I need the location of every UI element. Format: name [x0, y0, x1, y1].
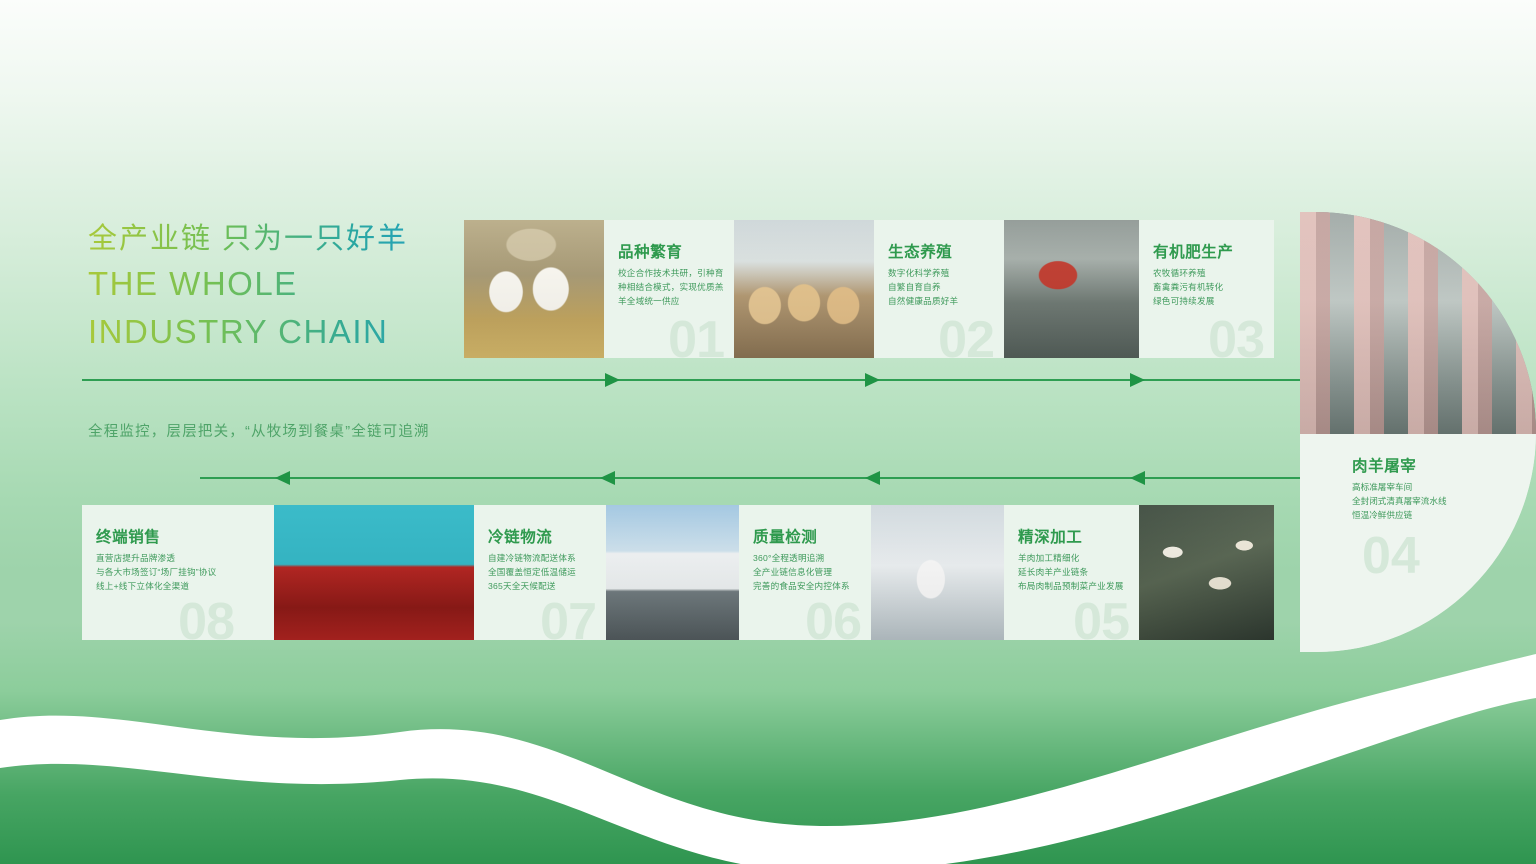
- step-photo-03: [1004, 220, 1139, 358]
- step-lines-02: 数字化科学养殖 自繁自育自养 自然健康品质好羊: [888, 266, 1004, 309]
- step-text-panel-07: 冷链物流 自建冷链物流配送体系 全国覆盖恒定低温储运 365天全天候配送 07: [474, 505, 606, 640]
- step-card-05[interactable]: 精深加工 羊肉加工精细化 延长肉羊产业链条 布局肉制品预制菜产业发展 05: [1004, 505, 1274, 640]
- tagline-text: 全程监控，层层把关，“从牧场到餐桌”全链可追溯: [88, 420, 430, 441]
- step-line: 全国覆盖恒定低温储运: [488, 565, 606, 579]
- step-card-08[interactable]: 终端销售 直营店提升品牌渗透 与各大市场签订“场厂挂钩”协议 线上+线下立体化全…: [82, 505, 474, 640]
- headline-block: 全产业链 只为一只好羊 THE WHOLE INDUSTRY CHAIN: [88, 222, 508, 353]
- step-line: 校企合作技术共研，引种育: [618, 266, 734, 280]
- step-text-panel-03: 有机肥生产 农牧循环养殖 畜禽粪污有机转化 绿色可持续发展 03: [1139, 220, 1274, 358]
- bottom-wave-decoration: [0, 624, 1536, 864]
- step-text-panel-08: 终端销售 直营店提升品牌渗透 与各大市场签订“场厂挂钩”协议 线上+线下立体化全…: [82, 505, 274, 640]
- step-title-07: 冷链物流: [488, 525, 552, 547]
- step-line: 绿色可持续发展: [1153, 294, 1273, 308]
- step-title-01: 品种繁育: [618, 240, 682, 262]
- step-title-06: 质量检测: [753, 525, 817, 547]
- step-card-07[interactable]: 冷链物流 自建冷链物流配送体系 全国覆盖恒定低温储运 365天全天候配送 07: [474, 505, 739, 640]
- step-number-04: 04: [1362, 530, 1420, 582]
- step-lines-06: 360°全程透明追溯 全产业链信息化管理 完善的食品安全内控体系: [753, 551, 871, 594]
- lab-inspection-photo: [871, 505, 1004, 640]
- step-photo-01: [464, 220, 604, 358]
- step-line: 完善的食品安全内控体系: [753, 579, 871, 593]
- step-line: 全封闭式清真屠宰流水线: [1352, 494, 1447, 508]
- slaughter-line-photo: [1300, 212, 1536, 434]
- step-photo-06: [871, 505, 1004, 640]
- step-card-01[interactable]: 品种繁育 校企合作技术共研，引种育 种相结合模式，实现优质羔 羊全域统一供应 0…: [464, 220, 734, 358]
- step-line: 与各大市场签订“场厂挂钩”协议: [96, 565, 274, 579]
- step-line: 农牧循环养殖: [1153, 266, 1273, 280]
- step-lines-07: 自建冷链物流配送体系 全国覆盖恒定低温储运 365天全天候配送: [488, 551, 606, 594]
- step-text-panel-01: 品种繁育 校企合作技术共研，引种育 种相结合模式，实现优质羔 羊全域统一供应 0…: [604, 220, 734, 358]
- infographic-canvas: 全产业链 只为一只好羊 THE WHOLE INDUSTRY CHAIN 全程监…: [0, 0, 1536, 864]
- step-photo-05: [1139, 505, 1274, 640]
- step-title-04: 肉羊屠宰: [1352, 454, 1416, 476]
- step-card-06[interactable]: 质量检测 360°全程透明追溯 全产业链信息化管理 完善的食品安全内控体系 06: [739, 505, 1004, 640]
- step-photo-08: [274, 505, 474, 640]
- step-line: 高标准屠宰车间: [1352, 480, 1447, 494]
- u-turn-content: 肉羊屠宰 高标准屠宰车间 全封闭式清真屠宰流水线 恒温冷鲜供应链 04: [1300, 212, 1536, 652]
- step-text-panel-02: 生态养殖 数字化科学养殖 自繁自育自养 自然健康品质好羊 02: [874, 220, 1004, 358]
- lambs-in-pen-photo: [464, 220, 604, 358]
- step-line: 延长肉羊产业链条: [1018, 565, 1138, 579]
- step-line: 线上+线下立体化全渠道: [96, 579, 274, 593]
- headline-english-line1: THE WHOLE: [88, 263, 508, 305]
- step-line: 直营店提升品牌渗透: [96, 551, 274, 565]
- step-card-04[interactable]: 肉羊屠宰 高标准屠宰车间 全封闭式清真屠宰流水线 恒温冷鲜供应链 04: [1300, 212, 1536, 652]
- headline-chinese: 全产业链 只为一只好羊: [88, 222, 508, 257]
- step-lines-05: 羊肉加工精细化 延长肉羊产业链条 布局肉制品预制菜产业发展: [1018, 551, 1138, 594]
- step-line: 360°全程透明追溯: [753, 551, 871, 565]
- step-line: 羊全域统一供应: [618, 294, 734, 308]
- retail-storefront-photo: [274, 505, 474, 640]
- step-card-03[interactable]: 有机肥生产 农牧循环养殖 畜禽粪污有机转化 绿色可持续发展 03: [1004, 220, 1274, 358]
- step-line: 恒温冷鲜供应链: [1352, 508, 1447, 522]
- step-line: 数字化科学养殖: [888, 266, 1004, 280]
- step-card-02[interactable]: 生态养殖 数字化科学养殖 自繁自育自养 自然健康品质好羊 02: [734, 220, 1004, 358]
- step-lines-03: 农牧循环养殖 畜禽粪污有机转化 绿色可持续发展: [1153, 266, 1273, 309]
- step-line: 自繁自育自养: [888, 280, 1004, 294]
- refrigerated-truck-photo: [606, 505, 739, 640]
- step-line: 自然健康品质好羊: [888, 294, 1004, 308]
- step-line: 自建冷链物流配送体系: [488, 551, 606, 565]
- step-text-panel-05: 精深加工 羊肉加工精细化 延长肉羊产业链条 布局肉制品预制菜产业发展 05: [1004, 505, 1139, 640]
- step-lines-08: 直营店提升品牌渗透 与各大市场签订“场厂挂钩”协议 线上+线下立体化全渠道: [96, 551, 274, 594]
- headline-english-line2: INDUSTRY CHAIN: [88, 311, 508, 353]
- step-photo-02: [734, 220, 874, 358]
- step-line: 羊肉加工精细化: [1018, 551, 1138, 565]
- step-lines-04: 高标准屠宰车间 全封闭式清真屠宰流水线 恒温冷鲜供应链: [1352, 480, 1447, 523]
- step-text-panel-06: 质量检测 360°全程透明追溯 全产业链信息化管理 完善的食品安全内控体系 06: [739, 505, 871, 640]
- wave-svg: [0, 624, 1536, 864]
- step-number-02: 02: [938, 314, 994, 358]
- step-number-01: 01: [668, 314, 724, 358]
- step-title-08: 终端销售: [96, 525, 160, 547]
- step-title-02: 生态养殖: [888, 240, 952, 262]
- step-line: 种相结合模式，实现优质羔: [618, 280, 734, 294]
- step-line: 全产业链信息化管理: [753, 565, 871, 579]
- step-title-05: 精深加工: [1018, 525, 1082, 547]
- processed-meat-photo: [1139, 505, 1274, 640]
- sheep-barn-photo: [734, 220, 874, 358]
- step-line: 布局肉制品预制菜产业发展: [1018, 579, 1138, 593]
- step-title-03: 有机肥生产: [1153, 240, 1234, 262]
- step-number-03: 03: [1208, 314, 1264, 358]
- step-line: 365天全天候配送: [488, 579, 606, 593]
- step-photo-04: [1300, 212, 1536, 434]
- fertilizer-machinery-photo: [1004, 220, 1139, 358]
- step-line: 畜禽粪污有机转化: [1153, 280, 1273, 294]
- step-photo-07: [606, 505, 739, 640]
- step-lines-01: 校企合作技术共研，引种育 种相结合模式，实现优质羔 羊全域统一供应: [618, 266, 734, 309]
